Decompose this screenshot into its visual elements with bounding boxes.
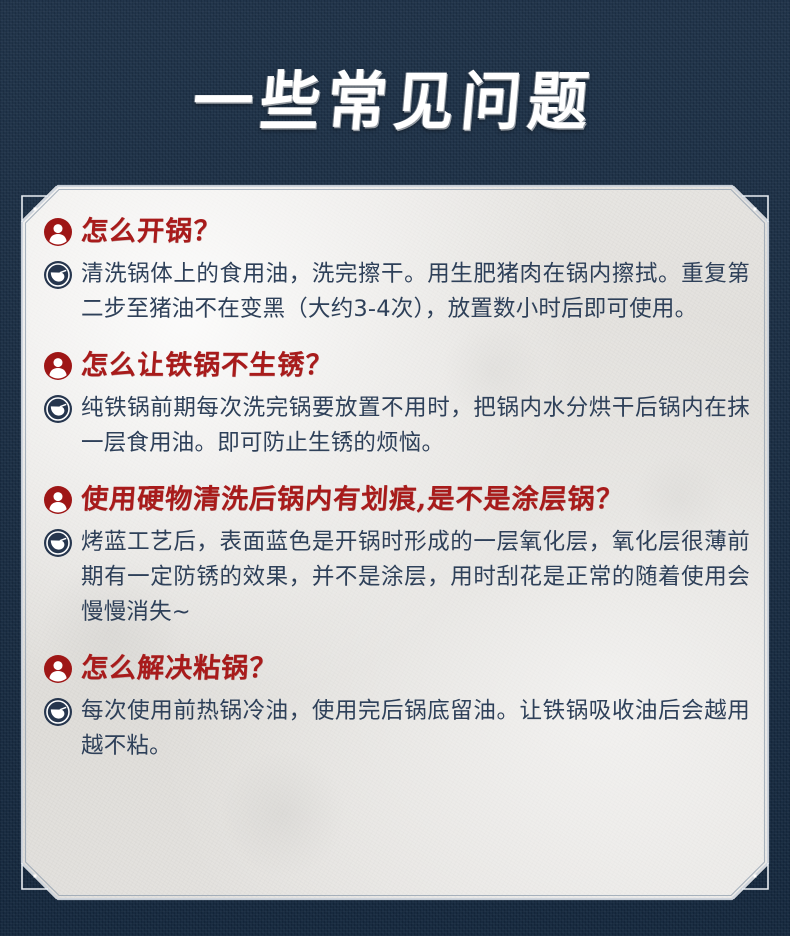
faq-answer-row: 烤蓝工艺后，表面蓝色是开锅时形成的一层氧化层，氧化层很薄前期有一定防锈的效果，并… [44,525,750,630]
wok-pan-icon [44,395,72,423]
faq-answer-text: 烤蓝工艺后，表面蓝色是开锅时形成的一层氧化层，氧化层很薄前期有一定防锈的效果，并… [81,525,750,630]
page-background: 一些常见问题 [0,0,790,936]
wok-pan-icon [44,529,72,557]
faq-answer-row: 清洗锅体上的食用油，洗完擦干。用生肥猪肉在锅内擦拭。重复第二步至猪油不在变黑（大… [44,257,750,327]
faq-question-row: 怎么开锅？ [44,215,750,249]
faq-item: 怎么解决粘锅？ 每次使用前热锅冷油，使用完后锅底留油。让铁锅吸收油后会越用越不粘… [44,652,750,764]
faq-item: 怎么开锅？ 清洗锅体上的食用油，洗完擦干。用生肥猪肉在锅内擦拭。重复第二步至猪油… [44,215,750,327]
user-person-icon [44,352,72,380]
title-area: 一些常见问题 [0,0,790,185]
faq-question-text: 怎么让铁锅不生锈？ [80,349,334,383]
faq-question-row: 怎么让铁锅不生锈？ [44,349,750,383]
faq-answer-row: 纯铁锅前期每次洗完锅要放置不用时，把锅内水分烘干后锅内在抹一层食用油。即可防止生… [44,391,750,461]
faq-answer-text: 每次使用前热锅冷油，使用完后锅底留油。让铁锅吸收油后会越用越不粘。 [81,694,750,764]
wok-pan-icon [44,261,72,289]
user-person-icon [44,655,72,683]
faq-question-row: 怎么解决粘锅？ [44,652,750,686]
faq-question-text: 怎么解决粘锅？ [80,652,278,686]
faq-question-text: 使用硬物清洗后锅内有划痕,是不是涂层锅？ [80,483,625,517]
faq-answer-text: 纯铁锅前期每次洗完锅要放置不用时，把锅内水分烘干后锅内在抹一层食用油。即可防止生… [81,391,750,461]
faq-question-text: 怎么开锅？ [80,215,222,249]
page-title: 一些常见问题 [190,51,599,134]
user-person-icon [44,218,72,246]
wok-pan-icon [44,698,72,726]
faq-item: 使用硬物清洗后锅内有划痕,是不是涂层锅？ 烤蓝工艺后，表面蓝色是开锅时形成的一层… [44,483,750,630]
faq-list: 怎么开锅？ 清洗锅体上的食用油，洗完擦干。用生肥猪肉在锅内擦拭。重复第二步至猪油… [44,215,750,764]
faq-item: 怎么让铁锅不生锈？ 纯铁锅前期每次洗完锅要放置不用时，把锅内水分烘干后锅内在抹一… [44,349,750,461]
faq-answer-row: 每次使用前热锅冷油，使用完后锅底留油。让铁锅吸收油后会越用越不粘。 [44,694,750,764]
faq-question-row: 使用硬物清洗后锅内有划痕,是不是涂层锅？ [44,483,750,517]
faq-answer-text: 清洗锅体上的食用油，洗完擦干。用生肥猪肉在锅内擦拭。重复第二步至猪油不在变黑（大… [81,257,750,327]
user-person-icon [44,486,72,514]
